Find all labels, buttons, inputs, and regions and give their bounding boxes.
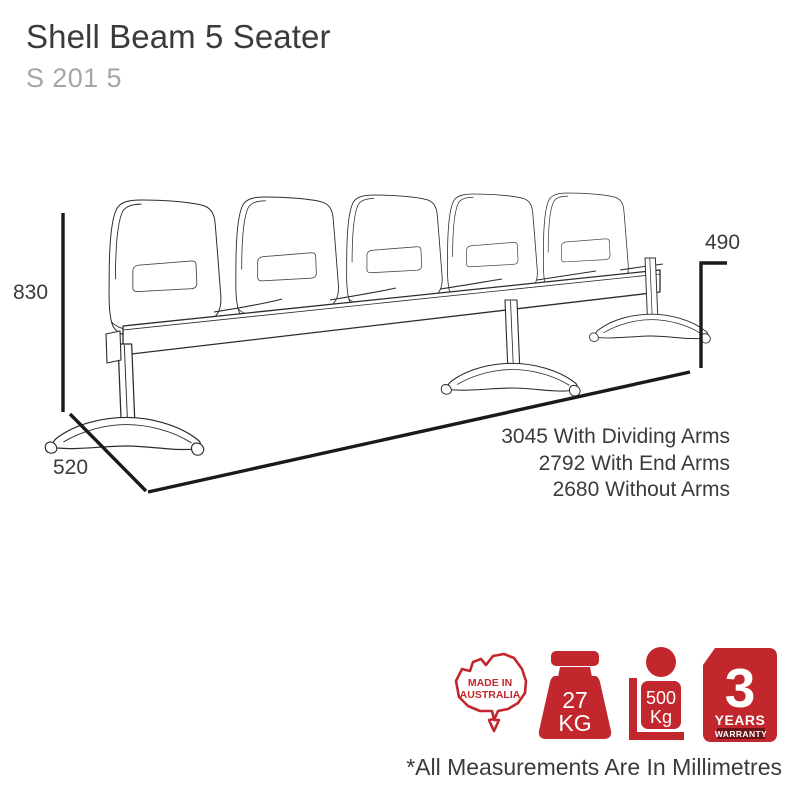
weight-unit: KG <box>558 710 591 736</box>
width-options-list: 3045 With Dividing Arms 2792 With End Ar… <box>300 424 730 504</box>
width-option-no-arms: 2680 Without Arms <box>300 477 730 504</box>
dimension-label-seat-height: 490 <box>705 231 740 255</box>
warranty-line2: WARRANTY <box>715 729 767 739</box>
badge-weight: 27 KG <box>530 645 620 745</box>
dimension-label-height: 830 <box>13 281 48 305</box>
width-option-dividing-arms: 3045 With Dividing Arms <box>300 424 730 451</box>
feature-badges: MADE IN AUSTRALIA 27 KG <box>452 645 782 745</box>
dimension-line-seat-height <box>701 263 727 368</box>
load-value: 500 <box>646 688 676 708</box>
warranty-line1: YEARS <box>715 712 766 728</box>
seat-2 <box>236 197 348 322</box>
product-spec-sheet: Shell Beam 5 Seater S 201 5 <box>0 0 800 800</box>
warranty-years-number: 3 <box>725 657 756 719</box>
width-option-end-arms: 2792 With End Arms <box>300 451 730 478</box>
badge-made-in-australia: MADE IN AUSTRALIA <box>452 645 530 745</box>
made-in-line1: MADE IN <box>468 677 512 689</box>
badge-warranty: 3 YEARS WARRANTY <box>695 645 781 745</box>
measurement-footnote: *All Measurements Are In Millimetres <box>0 752 782 782</box>
leg-front <box>45 331 203 455</box>
made-in-line2: AUSTRALIA <box>460 689 521 701</box>
badge-load-capacity: 500 Kg <box>622 645 688 745</box>
load-unit: Kg <box>650 707 672 727</box>
dimension-label-depth: 520 <box>53 456 88 480</box>
